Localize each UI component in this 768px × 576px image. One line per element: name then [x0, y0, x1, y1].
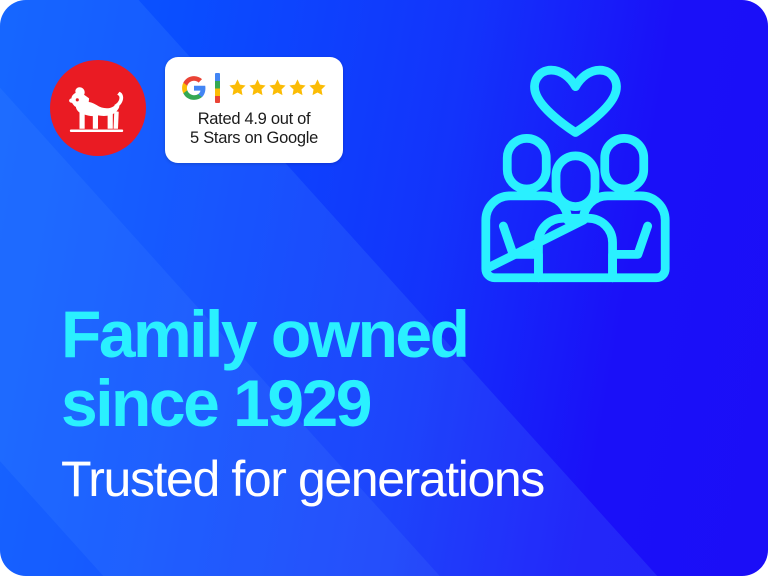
- star-icon: [248, 78, 267, 97]
- person-right-head-icon: [605, 138, 644, 189]
- badge-rating-row: [181, 71, 327, 105]
- dog-silhouette-icon: [61, 71, 135, 145]
- right-arm-icon: [613, 226, 648, 278]
- headline-block: Family owned since 1929 Trusted for gene…: [61, 300, 711, 507]
- google-review-badge[interactable]: Rated 4.9 out of 5 Stars on Google: [165, 57, 343, 163]
- badge-rating-text: Rated 4.9 out of 5 Stars on Google: [190, 110, 318, 148]
- star-icon: [268, 78, 287, 97]
- left-arm-icon: [503, 226, 538, 278]
- brand-logo[interactable]: [50, 60, 146, 156]
- promo-banner: Rated 4.9 out of 5 Stars on Google Famil…: [0, 0, 768, 576]
- star-icon: [308, 78, 327, 97]
- family-with-heart-icon: [478, 58, 673, 283]
- star-icon: [288, 78, 307, 97]
- person-left-head-icon: [507, 138, 546, 189]
- heart-icon: [535, 70, 617, 132]
- headline-line-1: Family owned: [61, 300, 711, 369]
- star-icon: [228, 78, 247, 97]
- google-g-icon: [181, 75, 207, 101]
- subheadline: Trusted for generations: [61, 451, 711, 507]
- star-rating: [228, 78, 327, 97]
- google-color-divider-icon: [215, 73, 220, 103]
- headline-line-2: since 1929: [61, 369, 711, 438]
